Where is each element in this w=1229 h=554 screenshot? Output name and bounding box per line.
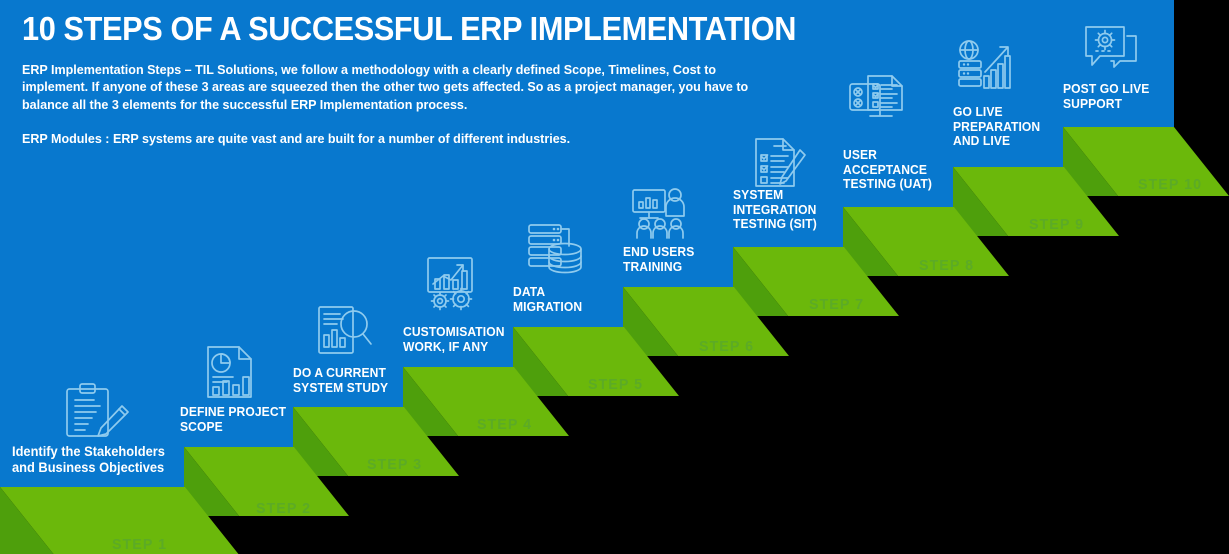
step-title-5: DATA MIGRATION — [513, 285, 613, 314]
step-label-10: STEP 10 — [1138, 176, 1202, 193]
step-label-6: STEP 6 — [699, 338, 754, 355]
step-title-7: SYSTEM INTEGRATION TESTING (SIT) — [733, 188, 839, 232]
page-title: 10 STEPS OF A SUCCESSFUL ERP IMPLEMENTAT… — [22, 12, 738, 47]
infographic-canvas: 10 STEPS OF A SUCCESSFUL ERP IMPLEMENTAT… — [0, 0, 1229, 554]
chart-magnifier-icon — [313, 303, 375, 361]
step-label-2: STEP 2 — [256, 500, 311, 517]
step-title-1: Identify the Stakeholders and Business O… — [12, 444, 181, 476]
step-title-6: END USERS TRAINING — [623, 245, 729, 274]
step-title-3: DO A CURRENT SYSTEM STUDY — [293, 366, 399, 395]
step-title-8: USER ACCEPTANCE TESTING (UAT) — [843, 148, 951, 192]
step-label-4: STEP 4 — [477, 416, 532, 433]
step-label-9: STEP 9 — [1029, 216, 1084, 233]
step-title-4: CUSTOMISATION WORK, IF ANY — [403, 325, 511, 354]
step-title-2: DEFINE PROJECT SCOPE — [180, 405, 288, 434]
step-title-10: POST GO LIVE SUPPORT — [1063, 82, 1171, 111]
presentation-trainer-audience-icon — [630, 186, 694, 242]
chart-gears-icon — [422, 256, 484, 314]
gear-chat-support-icon — [1080, 22, 1142, 78]
servers-database-icon — [525, 222, 585, 278]
step-label-8: STEP 8 — [919, 257, 974, 274]
step-label-1: STEP 1 — [112, 536, 167, 553]
clipboard-pencil-icon — [58, 382, 132, 440]
header-paragraph-2: ERP Modules : ERP systems are quite vast… — [22, 130, 754, 148]
step-title-9: GO LIVE PREPARATION AND LIVE — [953, 105, 1061, 149]
monitor-checklist-icon — [846, 62, 916, 124]
header-paragraph-1: ERP Implementation Steps – TIL Solutions… — [22, 61, 754, 114]
server-growth-arrow-icon — [955, 38, 1019, 94]
step-label-3: STEP 3 — [367, 456, 422, 473]
step-label-5: STEP 5 — [588, 376, 643, 393]
step-label-7: STEP 7 — [809, 296, 864, 313]
header-block: 10 STEPS OF A SUCCESSFUL ERP IMPLEMENTAT… — [22, 12, 792, 147]
report-piechart-barchart-icon — [199, 343, 261, 401]
